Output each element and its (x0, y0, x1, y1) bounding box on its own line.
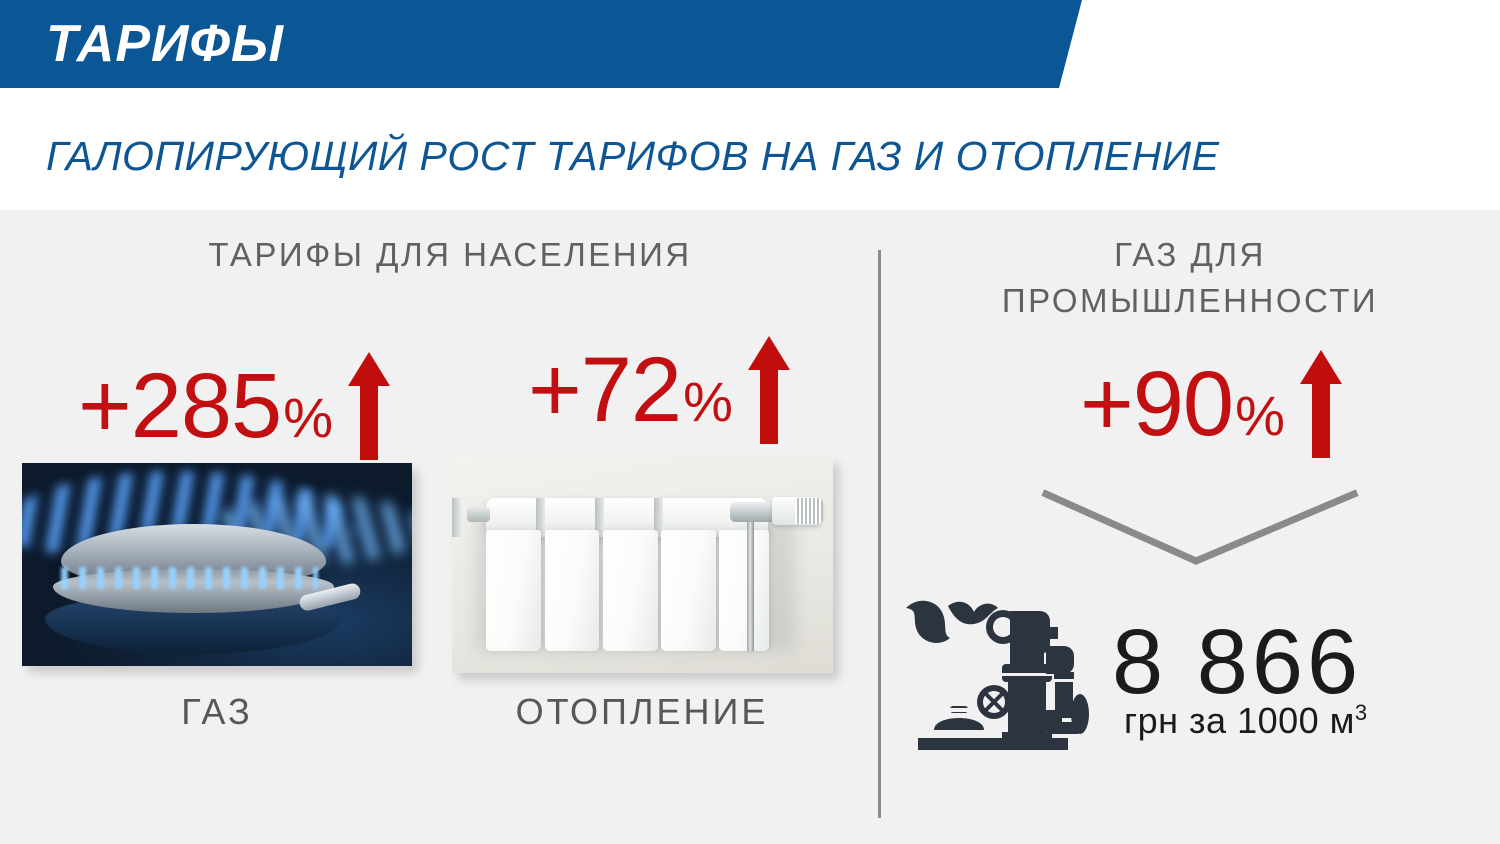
radiator-illustration (452, 457, 833, 673)
metric-industry-value-group: +90 % (1080, 358, 1284, 450)
wellhead-elbow (1046, 646, 1074, 674)
arrow-head (1300, 350, 1342, 384)
industry-price-value: 8 866 (1112, 614, 1362, 710)
section-heading-industry: ГАЗ ДЛЯ ПРОМЫШЛЕННОСТИ (930, 232, 1450, 324)
arrow-shaft (760, 366, 778, 444)
section-heading-industry-line1: ГАЗ ДЛЯ (930, 232, 1450, 278)
up-arrow-icon-heating (748, 336, 790, 444)
arrow-head (748, 336, 790, 370)
wellhead-dome-handle-hole (950, 708, 968, 712)
column-divider (878, 250, 881, 818)
gas-wellhead-icon (898, 578, 1094, 754)
industry-price-unit-superscript: 3 (1355, 700, 1368, 725)
industry-price-unit-text: грн за 1000 м (1124, 700, 1355, 741)
section-heading-industry-line2: ПРОМЫШЛЕННОСТИ (930, 278, 1450, 324)
up-arrow-icon-gas (348, 352, 390, 460)
burner-flame-jets (61, 567, 318, 589)
wellhead-pipe-line (1054, 679, 1074, 682)
smoke-wisp-left (906, 601, 950, 643)
metric-heating-unit: % (683, 374, 732, 430)
metric-gas-value: +285 (78, 360, 281, 452)
caption-heating: ОТОПЛЕНИЕ (422, 690, 862, 734)
up-arrow-icon-industry (1300, 350, 1342, 458)
radiator-valve-pipe (747, 515, 753, 651)
metric-industry-unit: % (1235, 388, 1284, 444)
industry-price-unit: грн за 1000 м3 (1124, 700, 1368, 742)
metric-heating-value: +72 (528, 344, 681, 436)
slide-root: ТАРИФЫ ГАЛОПИРУЮЩИЙ РОСТ ТАРИФОВ НА ГАЗ … (0, 0, 1500, 844)
radiator-fin (486, 530, 541, 651)
arrow-shaft (360, 382, 378, 460)
wellhead-shape (906, 601, 1089, 750)
arrow-shaft (1312, 380, 1330, 458)
caption-gas: ГАЗ (22, 690, 412, 734)
gas-burner-photo (22, 463, 412, 666)
wellhead-collar-line (1002, 673, 1052, 676)
chevron-stroke (1046, 494, 1354, 561)
radiator-fin (603, 530, 658, 651)
radiator-fin (545, 530, 600, 651)
wellhead-column (1008, 682, 1046, 738)
radiator-photo (452, 457, 833, 673)
metric-industry-value: +90 (1080, 358, 1233, 450)
wellhead-ground (918, 738, 1068, 750)
radiator-thermostat-ribs (795, 498, 824, 524)
metric-heating: +72 % (528, 336, 790, 444)
wellhead-flange (1071, 694, 1089, 734)
radiator-fin (719, 530, 769, 651)
radiator-left-nipple (467, 507, 490, 522)
page-subtitle: ГАЛОПИРУЮЩИЙ РОСТ ТАРИФОВ НА ГАЗ И ОТОПЛ… (46, 131, 1219, 181)
metric-heating-value-group: +72 % (528, 344, 732, 436)
arrow-head (348, 352, 390, 386)
metric-gas-unit: % (283, 390, 332, 446)
gas-burner-illustration (22, 463, 412, 666)
metric-industry: +90 % (1080, 350, 1342, 458)
metric-gas: +285 % (78, 352, 390, 460)
radiator-fin (661, 530, 716, 651)
wellhead-dome (934, 718, 984, 730)
section-heading-population: ТАРИФЫ ДЛЯ НАСЕЛЕНИЯ (140, 232, 760, 278)
page-title: ТАРИФЫ (46, 12, 284, 76)
chevron-down-icon (1030, 480, 1370, 575)
metric-gas-value-group: +285 % (78, 360, 332, 452)
radiator-top-slot (452, 498, 461, 537)
